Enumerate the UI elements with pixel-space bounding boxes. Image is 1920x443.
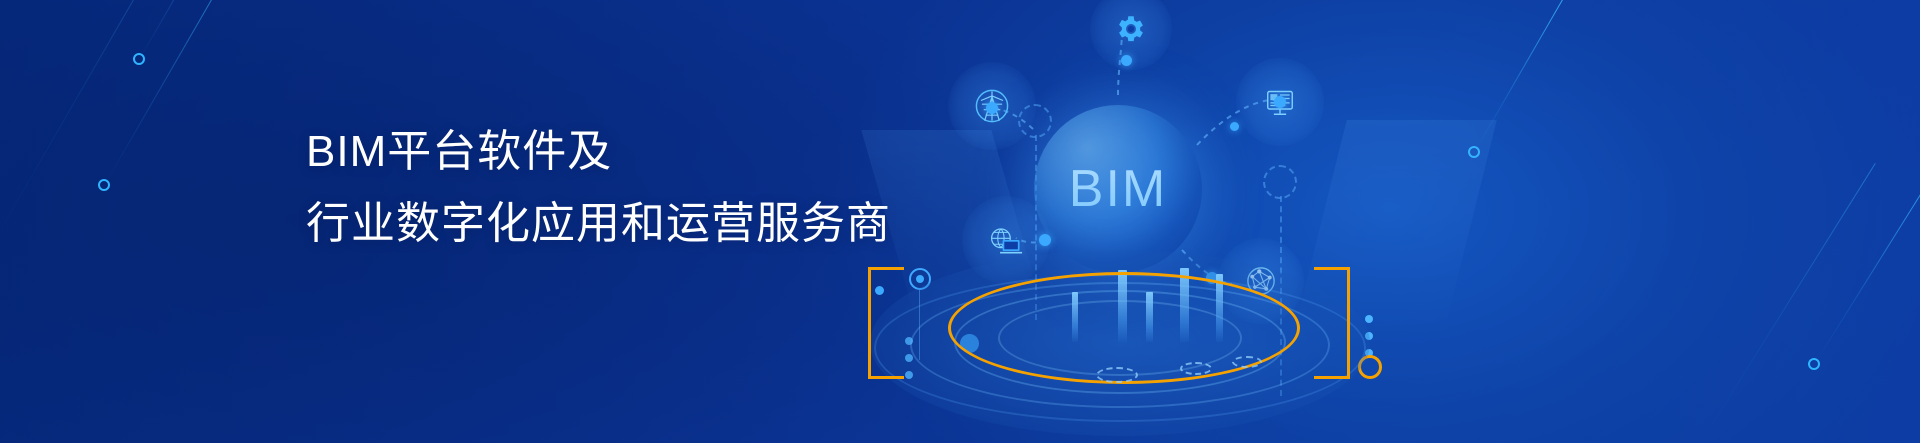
- decor-comet-dot-2: [98, 179, 110, 191]
- platform-dash-ellipse-3: [1232, 356, 1262, 368]
- bracket-left: [868, 267, 904, 379]
- hero-banner: BIM平台软件及 行业数字化应用和运营服务商 BIM: [0, 0, 1920, 443]
- node-monitor-dot-small: [1230, 122, 1239, 131]
- platform-dash-ellipse-2: [1180, 362, 1212, 375]
- decor-comet-dot-1: [133, 53, 145, 65]
- node-gear-dot: [1121, 55, 1132, 66]
- bim-hero-graphic: BIM: [850, 0, 1920, 443]
- node-power-tower-dot: [986, 102, 998, 114]
- headline-line-1: BIM平台软件及: [306, 116, 891, 188]
- platform-base: [850, 232, 1920, 443]
- dashed-guide-right-circle: [1263, 165, 1297, 199]
- gear-icon: [1114, 12, 1148, 46]
- page-title: BIM平台软件及 行业数字化应用和运营服务商: [306, 116, 891, 260]
- bracket-right: [1314, 267, 1350, 379]
- node-monitor-dot: [1274, 96, 1286, 108]
- headline-line-2: 行业数字化应用和运营服务商: [306, 188, 891, 260]
- platform-dash-ellipse-1: [1096, 367, 1138, 383]
